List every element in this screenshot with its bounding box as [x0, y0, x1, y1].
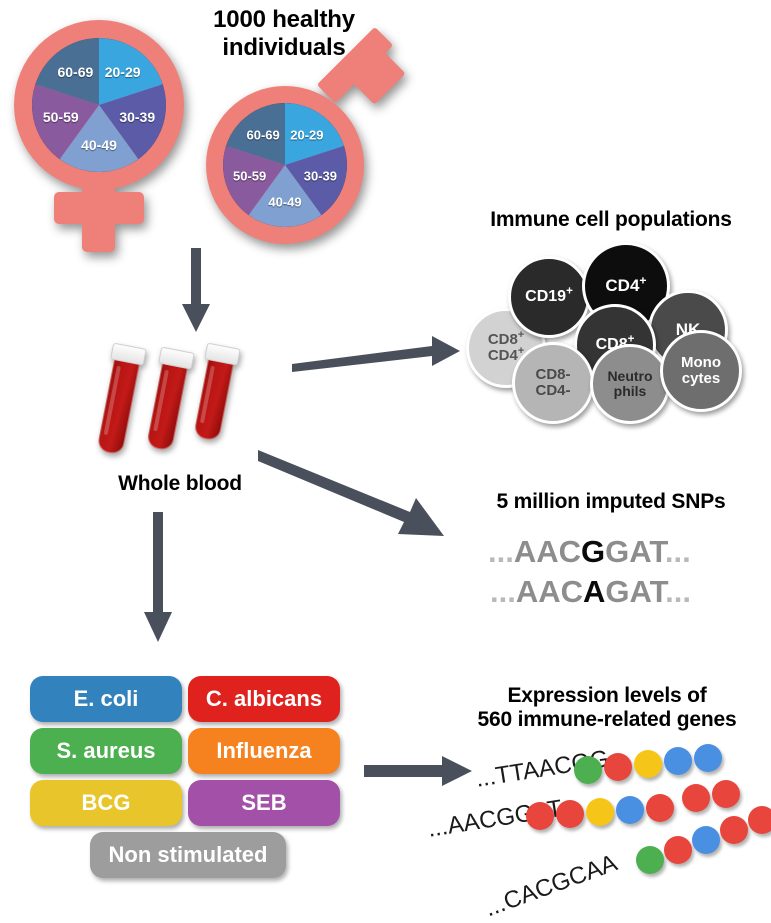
- arrow-blood-to-immune: [292, 330, 462, 372]
- expression-title-line1: Expression levels of: [444, 684, 770, 708]
- rna-bead: [586, 798, 614, 826]
- pie-label-60-69: 60-69: [57, 64, 93, 80]
- pie-label-30-39: 30-39: [304, 169, 337, 184]
- rna-bead: [616, 796, 644, 824]
- female-age-pie: 20-2930-3940-4950-5960-69: [32, 38, 166, 172]
- cell-label: CD8-CD4-: [535, 367, 570, 399]
- stimulus-label: SEB: [241, 790, 286, 816]
- stimulus-e-coli[interactable]: E. coli: [30, 676, 182, 722]
- snp-prefix: ...: [490, 574, 516, 609]
- snp-sequence-row: ...AACGGAT...: [488, 534, 691, 570]
- rna-bead: [682, 784, 710, 812]
- whole-blood-label: Whole blood: [80, 472, 280, 496]
- stimulus-non-stimulated[interactable]: Non stimulated: [90, 832, 286, 878]
- rna-bead: [636, 846, 664, 874]
- stimulus-label: E. coli: [74, 686, 139, 712]
- arrow-cohort-to-blood: [180, 248, 212, 334]
- pie-label-50-59: 50-59: [43, 109, 79, 125]
- cohort-title-line1: 1000 healthy: [168, 6, 400, 34]
- snp-suffix: ...: [665, 534, 691, 569]
- blood-tube: [191, 343, 240, 447]
- female-cross-horizontal: [54, 192, 144, 224]
- pie-label-20-29: 20-29: [105, 64, 141, 80]
- stimulus-label: C. albicans: [206, 686, 322, 712]
- snp-left: AAC: [514, 534, 581, 569]
- rna-strands-group: ...TTAACGG ...AACGGAT ...CACGCAA: [470, 744, 771, 914]
- cell-label: CD19+: [525, 289, 573, 306]
- arrow-stimuli-to-expression: [364, 756, 474, 786]
- stimuli-group: E. coli C. albicans S. aureus Influenza …: [30, 676, 350, 900]
- snp-left: AAC: [516, 574, 583, 609]
- male-age-pie: 20-2930-3940-4950-5960-69: [223, 103, 347, 227]
- snps-title: 5 million imputed SNPs: [452, 490, 770, 514]
- rna-bead: [664, 836, 692, 864]
- rna-bead: [526, 802, 554, 830]
- snp-suffix: ...: [665, 574, 691, 609]
- cell-label: Monocytes: [681, 355, 721, 387]
- cell-neutrophils: Neutrophils: [590, 344, 670, 424]
- pie-label-40-49: 40-49: [268, 195, 301, 210]
- pie-label-30-39: 30-39: [119, 109, 155, 125]
- arrow-blood-to-snps: [258, 450, 448, 545]
- snp-prefix: ...: [488, 534, 514, 569]
- stimulus-label: S. aureus: [56, 738, 155, 764]
- female-symbol: 20-2930-3940-4950-5960-69: [8, 12, 193, 262]
- pie-label-20-29: 20-29: [290, 127, 323, 142]
- pie-label-40-49: 40-49: [81, 137, 117, 153]
- rna-sequence: ...CACGCAA: [481, 849, 621, 923]
- rna-bead: [694, 744, 722, 772]
- rna-bead: [748, 806, 771, 834]
- snp-right: GAT: [605, 574, 665, 609]
- immune-title: Immune cell populations: [452, 208, 770, 232]
- cell-label: Neutrophils: [607, 369, 652, 398]
- male-symbol: 20-2930-3940-4950-5960-69: [198, 48, 418, 258]
- rna-bead: [720, 816, 748, 844]
- blood-tubes-group: [110, 342, 270, 467]
- snp-variant: A: [583, 574, 605, 609]
- arrow-blood-to-stimuli: [142, 512, 174, 644]
- snp-sequence-row: ...AACAGAT...: [490, 574, 691, 610]
- rna-bead: [634, 750, 662, 778]
- rna-bead: [604, 753, 632, 781]
- cell-label: CD4+: [605, 277, 646, 295]
- stimulus-label: BCG: [82, 790, 131, 816]
- stimulus-seb[interactable]: SEB: [188, 780, 340, 826]
- stimulus-bcg[interactable]: BCG: [30, 780, 182, 826]
- expression-title-line2: 560 immune-related genes: [444, 708, 770, 732]
- stimulus-c-albicans[interactable]: C. albicans: [188, 676, 340, 722]
- blood-tube: [144, 347, 194, 457]
- pie-label-50-59: 50-59: [233, 169, 266, 184]
- rna-bead: [556, 800, 584, 828]
- pie-label-60-69: 60-69: [247, 127, 280, 142]
- snp-variant: G: [581, 534, 605, 569]
- cell-monocytes: Monocytes: [660, 330, 742, 412]
- rna-bead: [574, 756, 602, 784]
- stimulus-label: Non stimulated: [109, 842, 268, 868]
- snp-right: GAT: [605, 534, 665, 569]
- stimulus-s-aureus[interactable]: S. aureus: [30, 728, 182, 774]
- stimulus-label: Influenza: [216, 738, 311, 764]
- immune-cells-group: CD8+CD4+ CD19+ CD4+ NK CD8+ CD8-CD4- Neu…: [452, 238, 771, 418]
- rna-bead: [712, 780, 740, 808]
- stimulus-influenza[interactable]: Influenza: [188, 728, 340, 774]
- blood-tube: [95, 343, 146, 459]
- cell-cd8neg-cd4neg: CD8-CD4-: [512, 342, 594, 424]
- rna-bead: [646, 794, 674, 822]
- rna-bead: [664, 747, 692, 775]
- rna-bead: [692, 826, 720, 854]
- expression-title: Expression levels of 560 immune-related …: [444, 684, 770, 732]
